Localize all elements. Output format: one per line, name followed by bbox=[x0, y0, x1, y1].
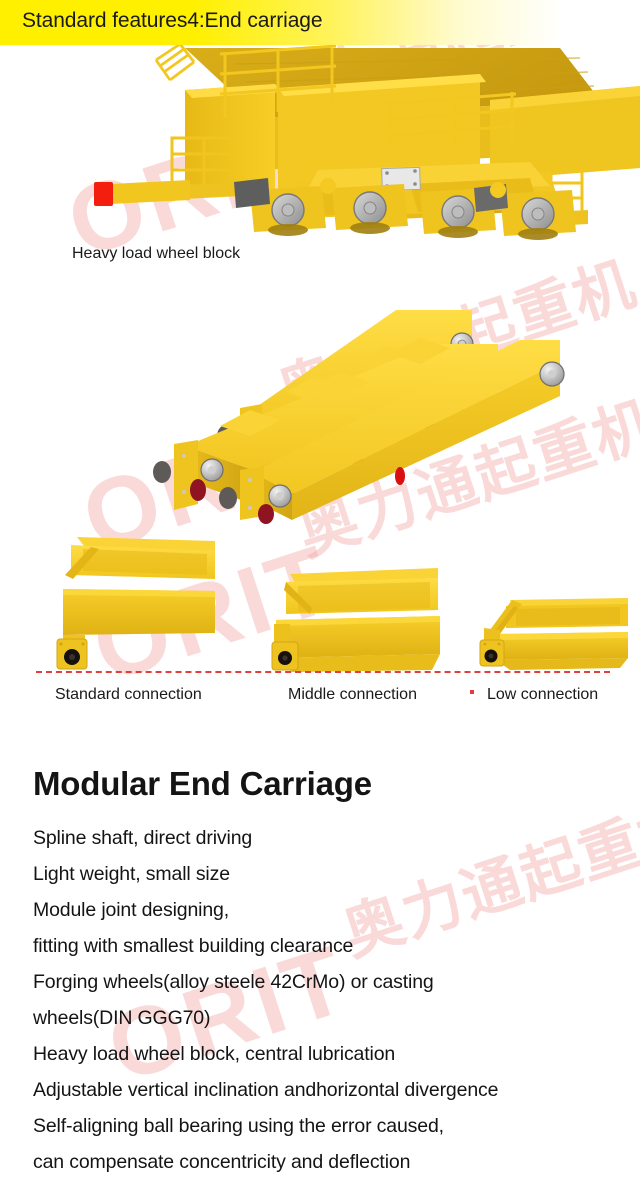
feature-line: Forging wheels(alloy steele 42CrMo) or c… bbox=[33, 964, 633, 1000]
standard-connection-illustration bbox=[55, 535, 235, 675]
header-banner: Standard features4:End carriage bbox=[0, 0, 640, 45]
feature-line: fitting with smallest building clearance bbox=[33, 928, 633, 964]
figure-end-carriage-beams bbox=[100, 300, 560, 520]
beams-illustration bbox=[100, 300, 560, 520]
label-low-connection: Low connection bbox=[487, 686, 598, 704]
label-middle-connection: Middle connection bbox=[288, 686, 417, 704]
baseline-dot-marker bbox=[470, 690, 474, 694]
figure-low-connection bbox=[480, 596, 630, 674]
low-connection-illustration bbox=[480, 596, 630, 674]
caption-heavy-load-wheel-block: Heavy load wheel block bbox=[72, 245, 240, 263]
feature-line: Module joint designing, bbox=[33, 892, 633, 928]
figure-standard-connection bbox=[55, 535, 235, 675]
middle-connection-illustration bbox=[272, 562, 452, 675]
figure-middle-connection bbox=[272, 562, 452, 675]
feature-line: can compensate concentricity and deflect… bbox=[33, 1144, 633, 1180]
page-title: Modular End Carriage bbox=[33, 765, 372, 803]
figure-heavy-load-wheel-block bbox=[60, 40, 640, 240]
page-root: ORIT 奥力通起重机 ORIT 奥力通起重机 ORIT 奥力通起重机 ORIT… bbox=[0, 0, 640, 1200]
label-standard-connection: Standard connection bbox=[55, 686, 202, 704]
banner-title: Standard features4:End carriage bbox=[22, 9, 322, 33]
feature-line: wheels(DIN GGG70) bbox=[33, 1000, 633, 1036]
feature-list: Spline shaft, direct driving Light weigh… bbox=[33, 820, 633, 1180]
feature-line: Adjustable vertical inclination andhoriz… bbox=[33, 1072, 633, 1108]
connection-baseline-separator bbox=[36, 671, 610, 673]
feature-line: Spline shaft, direct driving bbox=[33, 820, 633, 856]
feature-line: Light weight, small size bbox=[33, 856, 633, 892]
feature-line: Heavy load wheel block, central lubricat… bbox=[33, 1036, 633, 1072]
heavy-load-illustration bbox=[60, 40, 640, 240]
feature-line: Self-aligning ball bearing using the err… bbox=[33, 1108, 633, 1144]
